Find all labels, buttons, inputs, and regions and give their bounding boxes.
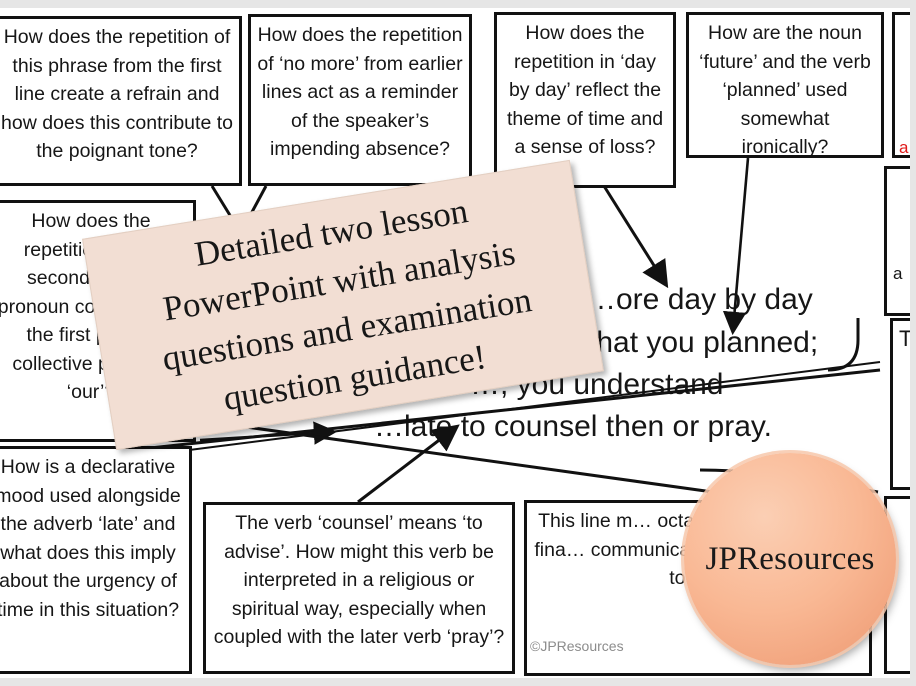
question-box-6[interactable]: How is a declarative mood used alongside… [0,446,192,674]
question-box-1[interactable]: How does the repetition of this phrase f… [0,16,242,186]
question-box-7[interactable]: The verb ‘counsel’ means ‘to advise’. Ho… [203,502,515,674]
question-box-2[interactable]: How does the repetition of ‘no more’ fro… [248,14,472,186]
jpresources-logo: JPResources [684,453,896,665]
jpresources-logo-label: JPResources [705,541,874,578]
edge-box-red-text: a [899,138,908,157]
question-box-4[interactable]: How are the noun ‘future’ and the verb ‘… [686,12,884,158]
watermark-text: ©JPResources [530,638,624,654]
slide-frame-right [910,0,916,686]
edge-box-mid-text: a [893,264,902,283]
slide-canvas: …ore day by day …that you planned; …, yo… [0,0,916,686]
slide-frame-top [0,0,916,8]
poem-line-1: …ore day by day [586,278,813,321]
question-box-3[interactable]: How does the repetition in ‘day by day’ … [494,12,676,188]
slide-frame-bottom [0,678,916,686]
poem-line-4: …late to counsel then or pray. [374,405,772,448]
